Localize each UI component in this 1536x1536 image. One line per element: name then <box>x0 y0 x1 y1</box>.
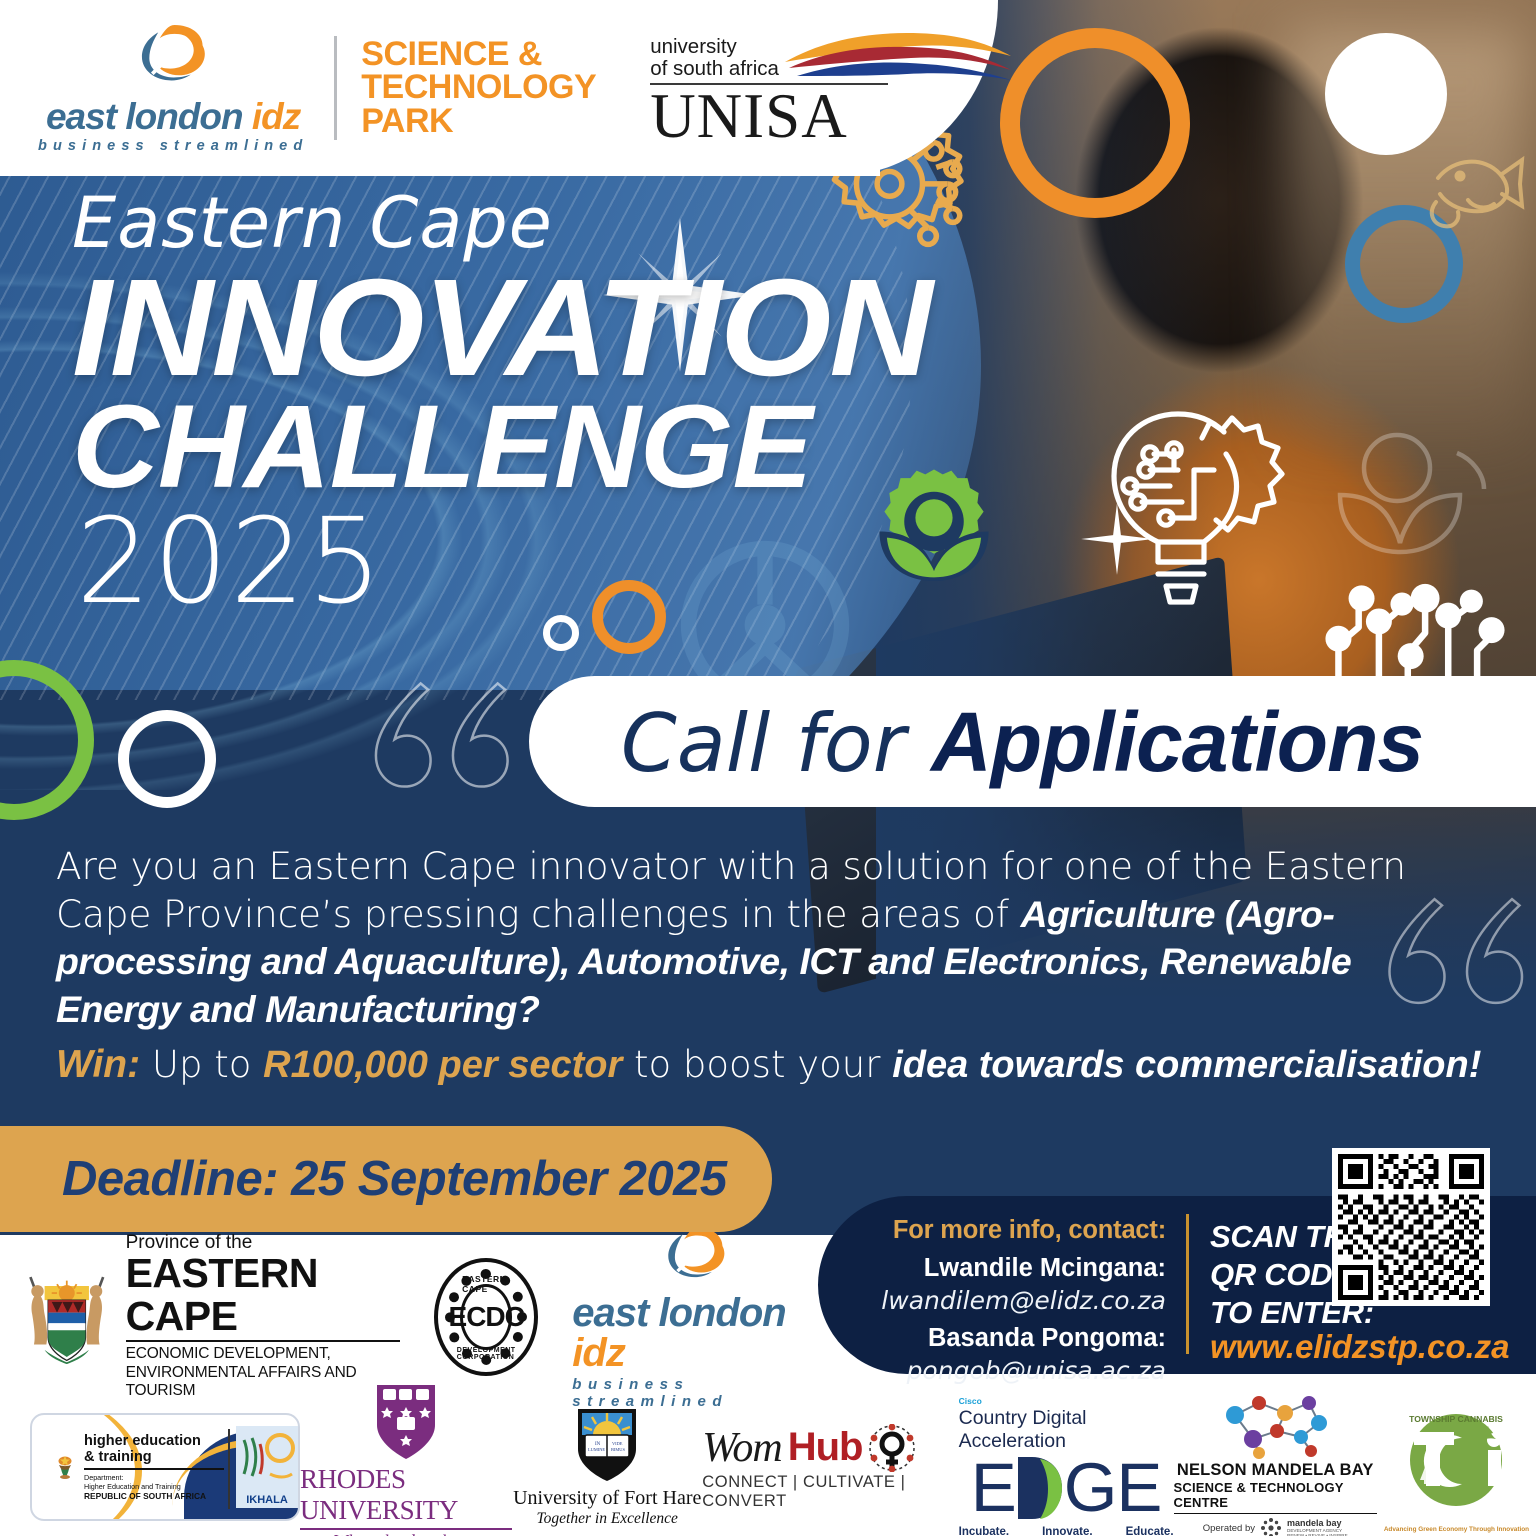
ec-line-3a: ECONOMIC DEVELOPMENT, <box>126 1345 401 1364</box>
east-london-idz-logo: east london idz business streamlined <box>38 22 308 154</box>
nelson-mandela-bay-stc-logo: NELSON MANDELA BAY SCIENCE & TECHNOLOGY … <box>1174 1395 1377 1536</box>
edge-sub-words: Incubate. Innovate. Educate. <box>959 1526 1174 1536</box>
ecdc-ring-bottom: DEVELOPMENT CORPORATION <box>457 1347 516 1361</box>
tech-nodes-icon <box>1320 555 1510 685</box>
title-year: 2025 <box>76 502 898 620</box>
prize-amount: R100,000 per sector <box>263 1044 622 1086</box>
edge-globe-icon <box>1016 1455 1064 1521</box>
deadline-banner: Deadline: 25 September 2025 <box>0 1126 772 1232</box>
rhodes-tagline: Where leaders learn <box>333 1531 479 1536</box>
unisa-logo: university of south africa UNISA <box>650 28 1013 148</box>
womhub-tagline: CONNECT | CULTIVATE | CONVERT <box>702 1473 958 1511</box>
contact-divider <box>1186 1214 1189 1354</box>
eli-tagline: business streamlined <box>38 138 308 154</box>
title-eyebrow: Eastern Cape <box>72 188 898 258</box>
womhub-symbol-icon <box>868 1424 916 1472</box>
deadline-text: Deadline: 25 September 2025 <box>62 1151 727 1207</box>
ikhala-label: IKHALA <box>236 1494 298 1506</box>
ecdc-logo: EASTERN CAPE ECDC DEVELOPMENT CORPORATIO… <box>434 1258 538 1376</box>
edge-sub-3: Educate. <box>1126 1526 1174 1536</box>
country-digital-acceleration-label: Country Digital Acceleration <box>959 1407 1174 1453</box>
nmb-line-2: SCIENCE & TECHNOLOGY CENTRE <box>1174 1480 1377 1510</box>
dhet-line-2b: Higher Education and Training <box>84 1482 224 1491</box>
ecdc-ring-top: EASTERN CAPE <box>462 1274 510 1294</box>
womhub-hub-text: Hub <box>788 1425 863 1470</box>
sparkle-icon <box>1078 500 1156 578</box>
svg-text:VIDE: VIDE <box>612 1441 623 1446</box>
cisco-label: Cisco <box>959 1396 982 1406</box>
poster-root: Eastern Cape INNOVATION CHALLENGE 2025 C… <box>0 0 1536 1536</box>
svg-text:LUMINE: LUMINE <box>588 1447 605 1452</box>
eastern-cape-coat-of-arms-icon <box>18 1263 116 1371</box>
partner-logos-row-secondary: higher education & training Department: … <box>0 1398 1536 1536</box>
eli-swoosh-icon <box>663 1225 729 1291</box>
mb-sub: DEVELOPMENT AGENCY <box>1287 1528 1348 1533</box>
fort-hare-name: University of Fort Hare <box>513 1487 701 1510</box>
contact-person-2-email[interactable]: pongob@unisa.ac.za <box>876 1356 1166 1385</box>
quote-mark-icon <box>368 676 518 794</box>
unisa-flag-icon <box>783 28 1013 80</box>
fort-hare-tagline: Together in Excellence <box>536 1510 677 1528</box>
prize-plain-2: to boost your <box>622 1043 892 1086</box>
contact-person-2-name: Basanda Pongoma: <box>876 1324 1166 1353</box>
rhodes-shield-icon <box>375 1383 437 1461</box>
dhet-line-3: REPUBLIC OF SOUTH AFRICA <box>84 1491 224 1501</box>
cisco-edge-logo: Cisco Country Digital Acceleration E GE … <box>959 1396 1174 1536</box>
university-of-fort-hare-logo: IN LUMINE VIDE BIMUS University of Fort … <box>513 1407 701 1528</box>
header-divider <box>334 36 337 140</box>
header-bar: east london idz business streamlined SCI… <box>0 0 1536 176</box>
qr-code-icon[interactable] <box>1332 1148 1490 1306</box>
tci-ring-text: TOWNSHIP CANNABIS <box>1410 1414 1504 1424</box>
eli-swoosh-icon <box>136 22 210 96</box>
dhet-line-2a: Department: <box>84 1473 224 1482</box>
stp-line-1: SCIENCE & <box>361 38 596 71</box>
stp-line-2: TECHNOLOGY <box>361 71 596 104</box>
nmb-operated-by: Operated by <box>1203 1523 1255 1534</box>
body-paragraph: Are you an Eastern Cape innovator with a… <box>56 843 1456 1034</box>
cfa-light-text: Call for <box>621 697 931 790</box>
mb-name: mandela bay <box>1287 1519 1348 1528</box>
partner-logos-row-primary: Province of the EASTERN CAPE ECONOMIC DE… <box>0 1242 820 1392</box>
unisa-small-line-2: of south africa <box>650 58 779 80</box>
rhodes-name: RHODES UNIVERSITY <box>300 1464 512 1526</box>
title-line-challenge: CHALLENGE <box>72 388 914 506</box>
womhub-wom-text: Wom <box>702 1424 781 1472</box>
edge-sub-1: Incubate. <box>959 1526 1009 1536</box>
nmb-line-1: NELSON MANDELA BAY <box>1177 1461 1374 1480</box>
eli-wordmark: east london idz <box>46 98 300 135</box>
eli-footer-wordmark: east london idz <box>572 1293 820 1373</box>
science-technology-park-logo: SCIENCE & TECHNOLOGY PARK <box>361 38 596 138</box>
cfa-bold-text: Applications <box>931 695 1423 789</box>
unisa-wordmark: UNISA <box>650 85 1013 148</box>
prize-bold-tail: idea towards commercialisation! <box>892 1044 1481 1086</box>
mandela-bay-development-agency-icon <box>1260 1517 1282 1536</box>
south-africa-coat-of-arms-icon <box>54 1441 76 1493</box>
east-london-idz-footer-logo: east london idz business streamlined <box>572 1225 820 1410</box>
prize-label: Win: <box>56 1043 140 1086</box>
rhodes-university-logo: RHODES UNIVERSITY Where leaders learn <box>300 1383 512 1536</box>
edge-wordmark: E GE <box>971 1455 1162 1521</box>
dhet-line-1b: & training <box>84 1449 224 1465</box>
website-url[interactable]: www.elidzstp.co.za <box>1210 1328 1510 1366</box>
fort-hare-shield-icon: IN LUMINE VIDE BIMUS <box>576 1407 638 1483</box>
shirt-leaf-watermark-icon <box>1320 420 1510 570</box>
white-ring-medium <box>118 710 216 808</box>
stp-line-3: PARK <box>361 105 596 138</box>
contact-heading: For more info, contact: <box>876 1216 1166 1245</box>
hero-title-block: Eastern Cape INNOVATION CHALLENGE 2025 <box>72 188 898 620</box>
prize-line: Win: Up to R100,000 per sector to boost … <box>56 1043 1496 1087</box>
ikhala-college-badge: IKHALA <box>236 1426 298 1508</box>
contact-details: For more info, contact: Lwandile Mcingan… <box>876 1216 1166 1385</box>
ecdc-core-text: ECDC <box>449 1301 524 1333</box>
prize-plain-1: Up to <box>152 1043 263 1086</box>
body-copy-zone: Are you an Eastern Cape innovator with a… <box>0 815 1536 1135</box>
molecule-network-icon <box>1215 1395 1335 1461</box>
ec-line-2: EASTERN CAPE <box>126 1252 401 1338</box>
call-for-applications-banner: Call for Applications <box>529 676 1536 807</box>
womhub-logo: Wom Hub CONNECT | CULTIVATE | CONVERT <box>702 1424 958 1511</box>
svg-text:BIMUS: BIMUS <box>611 1447 625 1452</box>
contact-person-1-name: Lwandile Mcingana: <box>876 1254 1166 1283</box>
tci-cannabis-icon: TOWNSHIP CANNABIS <box>1392 1402 1520 1524</box>
edge-sub-2: Innovate. <box>1042 1526 1092 1536</box>
tci-tagline: Advancing Green Economy Through Innovati… <box>1384 1526 1529 1533</box>
dhet-line-1a: higher education <box>84 1433 224 1449</box>
header-logos: east london idz business streamlined SCI… <box>0 0 1013 176</box>
dhet-ikhala-logo: higher education & training Department: … <box>30 1413 300 1521</box>
province-of-the-eastern-cape-logo: Province of the EASTERN CAPE ECONOMIC DE… <box>18 1233 400 1401</box>
title-line-innovation: INNOVATION <box>72 262 931 394</box>
contact-person-1-email[interactable]: lwandilem@elidz.co.za <box>876 1286 1166 1315</box>
unisa-small-line-1: university <box>650 36 779 58</box>
